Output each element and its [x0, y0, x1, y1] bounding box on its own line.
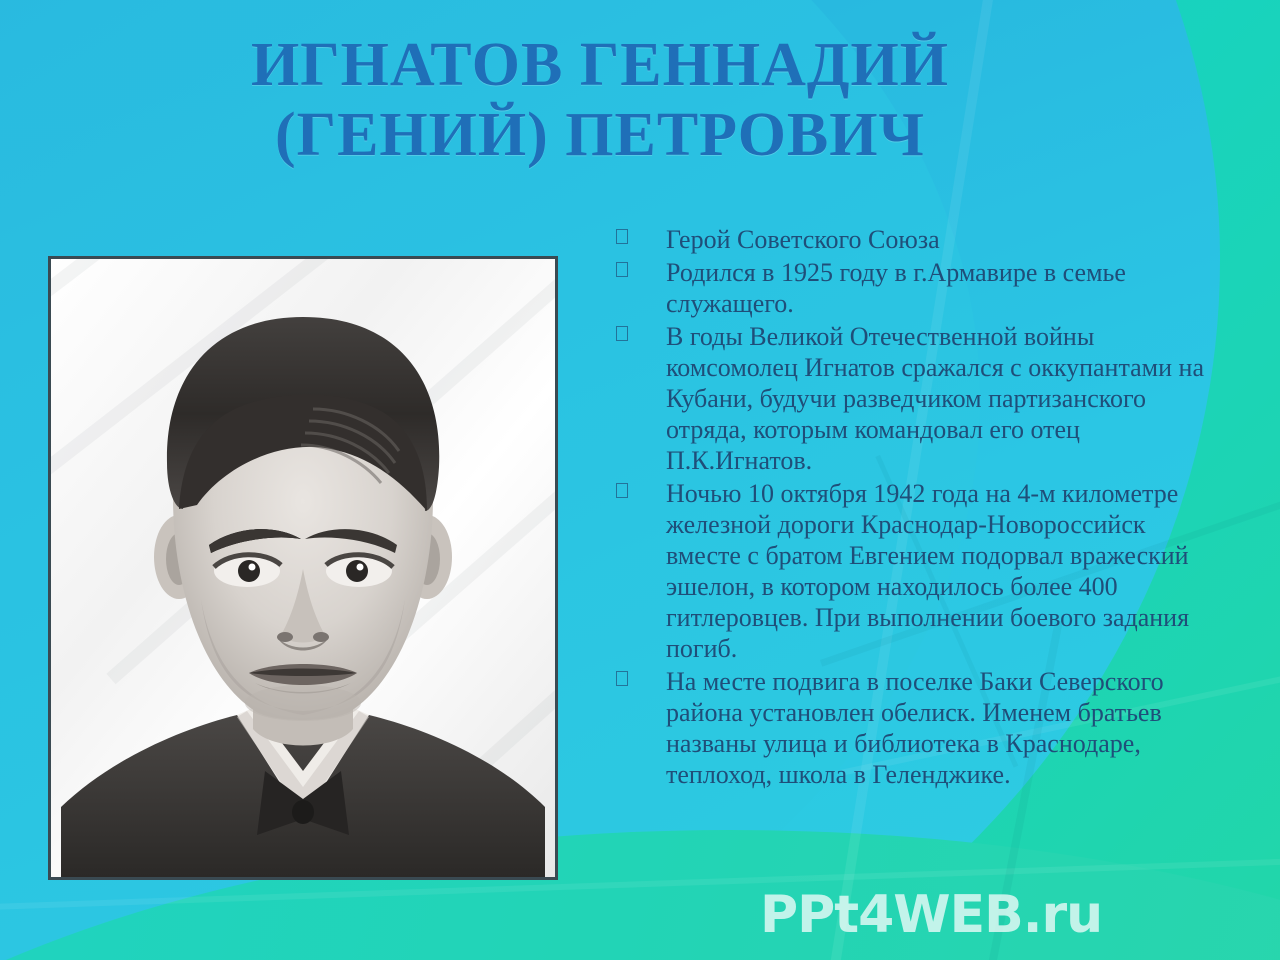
slide-title-line-2: (ГЕНИЙ) ПЕТРОВИЧ	[120, 100, 1080, 170]
slide-title: ИГНАТОВ ГЕННАДИЙ (ГЕНИЙ) ПЕТРОВИЧ	[120, 30, 1080, 170]
list-item-text: На месте подвига в поселке Баки Северско…	[666, 666, 1206, 790]
list-item-text: Герой Советского Союза	[666, 224, 1206, 255]
list-item: Ночью 10 октября 1942 года на 4-м киломе…	[606, 478, 1206, 664]
presentation-slide: ИГНАТОВ ГЕННАДИЙ (ГЕНИЙ) ПЕТРОВИЧ	[0, 0, 1280, 960]
portrait-photo	[48, 256, 558, 880]
bullet-list: Герой Советского Союза Родился в 1925 го…	[606, 224, 1206, 792]
bullet-box-icon	[606, 666, 666, 697]
bullet-box-icon	[606, 224, 666, 255]
list-item: Герой Советского Союза	[606, 224, 1206, 255]
list-item-text: Родился в 1925 году в г.Армавире в семье…	[666, 257, 1206, 319]
list-item-text: Ночью 10 октября 1942 года на 4-м киломе…	[666, 478, 1206, 664]
bullet-box-icon	[606, 321, 666, 352]
list-item: На месте подвига в поселке Баки Северско…	[606, 666, 1206, 790]
list-item: Родился в 1925 году в г.Армавире в семье…	[606, 257, 1206, 319]
bullet-box-icon	[606, 257, 666, 288]
site-watermark: PPt4WEB.ru	[760, 885, 1102, 945]
list-item: В годы Великой Отечественной войны комсо…	[606, 321, 1206, 476]
list-item-text: В годы Великой Отечественной войны комсо…	[666, 321, 1206, 476]
bullet-box-icon	[606, 478, 666, 509]
portrait-illustration	[51, 259, 555, 877]
slide-title-line-1: ИГНАТОВ ГЕННАДИЙ	[120, 30, 1080, 100]
